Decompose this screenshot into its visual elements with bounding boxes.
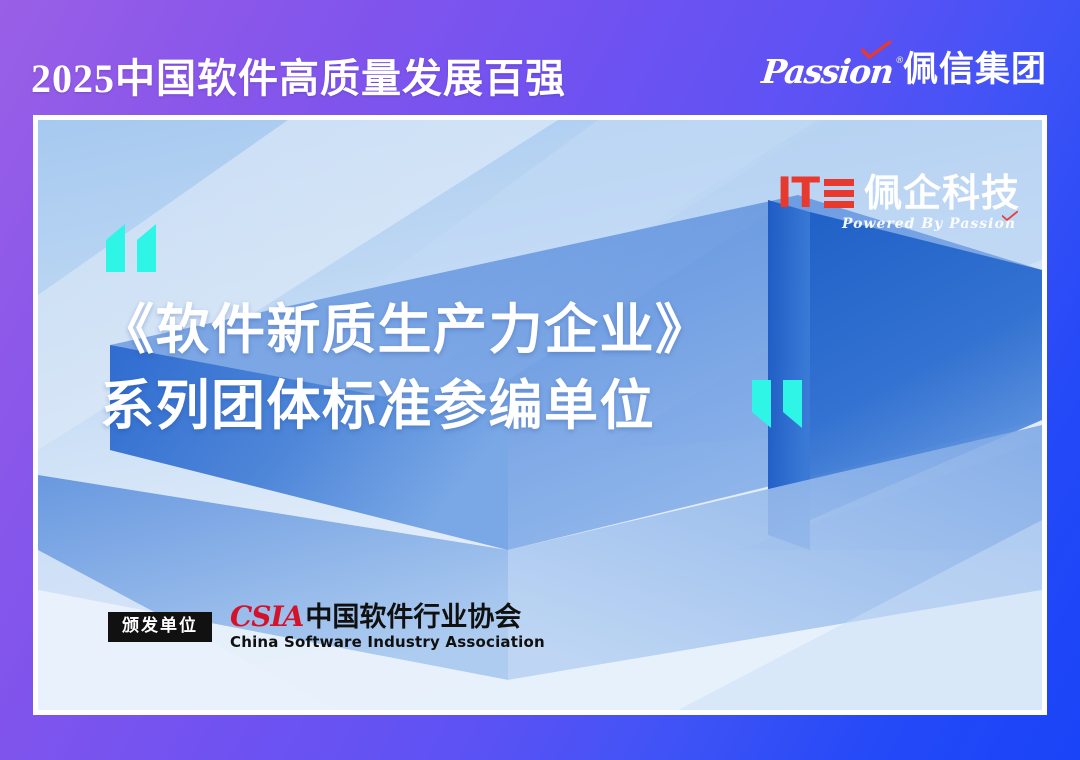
ite-tagline: Powered By Passion (842, 216, 1016, 232)
passion-chinese-name: 佩信集团 (903, 53, 1047, 88)
red-check-icon (860, 41, 892, 59)
page-header: 2025中国软件高质量发展百强 Passion ® 佩信集团 (0, 0, 1080, 115)
ite-chinese-name: 佩企科技 (864, 174, 1020, 212)
csia-chinese-name: 中国软件行业协会 (305, 604, 521, 631)
csia-english-name: China Software Industry Association (230, 635, 545, 650)
three-bar-icon (824, 179, 854, 208)
passion-group-logo: Passion ® 佩信集团 (762, 40, 1047, 88)
csia-logo: CSIA 中国软件行业协会 China Software Industry As… (230, 603, 545, 650)
ite-logo-row: IT 佩企科技 (777, 172, 1020, 214)
issuing-authority-block: 颁发单位 CSIA 中国软件行业协会 China Software Indust… (108, 603, 545, 650)
csia-mark: CSIA (230, 603, 303, 631)
ite-mark: IT (777, 172, 854, 214)
ite-mark-text: IT (777, 172, 819, 214)
ite-tagline-text: Powered By Passion (842, 216, 1016, 232)
headline-line-1: 《软件新质生产力企业》 (100, 292, 711, 368)
issuer-badge: 颁发单位 (108, 612, 212, 642)
quote-open-icon (104, 222, 166, 274)
registered-mark: ® (895, 57, 903, 66)
csia-logo-row: CSIA 中国软件行业协会 (230, 603, 545, 631)
headline-line-2: 系列团体标准参编单位 (100, 368, 711, 444)
award-certificate-card: IT 佩企科技 Powered By Passion 《软件新质生产力企业》 系… (33, 115, 1047, 715)
passion-wordmark: Passion ® (761, 55, 895, 88)
quote-close-icon (750, 378, 812, 430)
page-title: 2025中国软件高质量发展百强 (31, 46, 566, 104)
certificate-headline: 《软件新质生产力企业》 系列团体标准参编单位 (100, 292, 711, 444)
red-check-icon (1002, 211, 1018, 221)
ite-logo: IT 佩企科技 Powered By Passion (777, 172, 1020, 233)
